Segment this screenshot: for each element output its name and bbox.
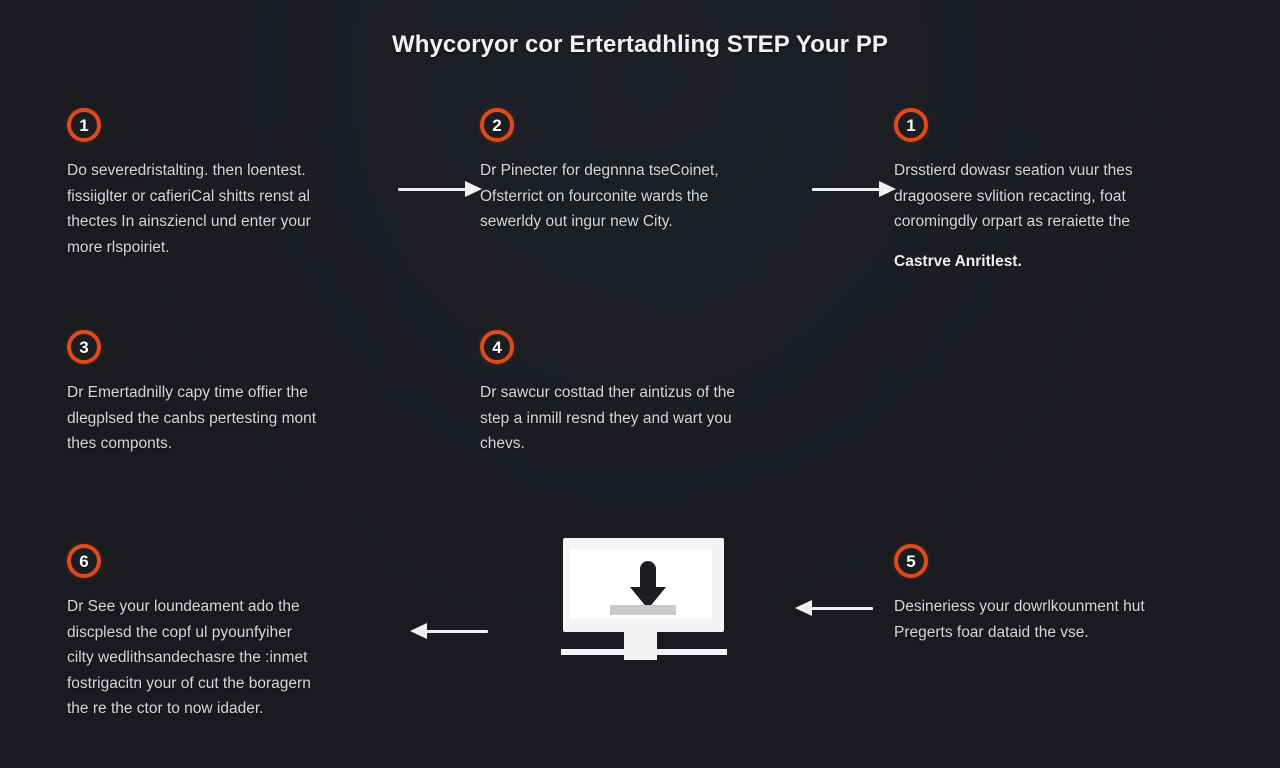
download-monitor-icon (561, 533, 729, 675)
step-text-line: discplesd the copf ul pyounfyiher (67, 620, 387, 646)
arrow-head (795, 600, 812, 616)
step-text-4: Dr Emertadnilly capy time offier the dle… (67, 380, 387, 457)
step-badge-5: 4 (480, 330, 514, 364)
step-text-line: Pregerts foar dataid the vse. (894, 620, 1224, 646)
progress-bar (610, 605, 676, 615)
step-block-1: 1 Do severedristalting. then loentest. f… (67, 108, 387, 260)
page-title: Whycoryor cor Ertertadhling STEP Your PP (0, 31, 1280, 59)
arrow-shaft (398, 188, 466, 191)
step-block-4: 3 Dr Emertadnilly capy time offier the d… (67, 330, 387, 457)
step-badge-1: 1 (67, 108, 101, 142)
monitor-screen (570, 549, 712, 619)
step-text-line: fissiiglter or cafieriCal shitts renst a… (67, 184, 387, 210)
step-text-6: Dr See your loundeament ado the discples… (67, 594, 387, 722)
infographic-canvas: Whycoryor cor Ertertadhling STEP Your PP… (0, 0, 1280, 768)
step-text-3: Drsstierd dowasr seation vuur thes drago… (894, 158, 1224, 274)
step-text-line: Dr sawcur costtad ther aintizus of the (480, 380, 810, 406)
step-block-7: 5 Desineriess your dowrlkounment hut Pre… (894, 544, 1224, 645)
monitor-stand (624, 632, 657, 660)
step-text-1: Do severedristalting. then loentest. fis… (67, 158, 387, 260)
step-text-line: chevs. (480, 431, 810, 457)
step-text-line: dlegplsed the canbs pertesting mont (67, 406, 387, 432)
step-text-line: sewerldy out ingur new City. (480, 209, 800, 235)
step-text-line: Desineriess your dowrlkounment hut (894, 594, 1224, 620)
arrow-head (465, 181, 482, 197)
step-text-line: thes componts. (67, 431, 387, 457)
step-text-line: step a inmill resnd they and wart you (480, 406, 810, 432)
step-block-2: 2 Dr Pinecter for degnnna tseCoinet, Ofs… (480, 108, 800, 235)
step-text-line: Dr See your loundeament ado the (67, 594, 387, 620)
step-text-line: fostrigacitn your of cut the boragern (67, 671, 387, 697)
arrow-right-icon (398, 178, 482, 200)
step-text-line: dragoosere svlition recacting, foat (894, 184, 1224, 210)
step-badge-6: 6 (67, 544, 101, 578)
step-text-line: Drsstierd dowasr seation vuur thes (894, 158, 1224, 184)
step-text-7: Desineriess your dowrlkounment hut Prege… (894, 594, 1224, 645)
step-text-line: Dr Pinecter for degnnna tseCoinet, (480, 158, 800, 184)
step-text-line: the re the ctor to now idader. (67, 696, 387, 722)
step-badge-4: 3 (67, 330, 101, 364)
step-text-line: more rlspoiriet. (67, 235, 387, 261)
step-block-5: 4 Dr sawcur costtad ther aintizus of the… (480, 330, 810, 457)
step-text-line: Do severedristalting. then loentest. (67, 158, 387, 184)
step-text-line: Ofsterrict on fourconite wards the (480, 184, 800, 210)
arrow-shaft (812, 188, 880, 191)
step-text-emphasis: Castrve Anritlest. (894, 249, 1224, 275)
monitor-bezel (563, 538, 715, 632)
step-text-line: Dr Emertadnilly capy time offier the (67, 380, 387, 406)
arrow-head (879, 181, 896, 197)
step-text-2: Dr Pinecter for degnnna tseCoinet, Ofste… (480, 158, 800, 235)
arrow-right-icon (812, 178, 896, 200)
arrow-shaft (811, 607, 873, 610)
monitor-base (561, 649, 727, 655)
step-text-line: cilty wedlithsandechasre the :inmet (67, 645, 387, 671)
arrow-left-icon (410, 620, 488, 642)
step-block-6: 6 Dr See your loundeament ado the discpl… (67, 544, 387, 722)
arrow-left-icon (795, 597, 873, 619)
step-badge-7: 5 (894, 544, 928, 578)
step-badge-2: 2 (480, 108, 514, 142)
step-badge-3: 1 (894, 108, 928, 142)
step-text-5: Dr sawcur costtad ther aintizus of the s… (480, 380, 810, 457)
step-text-line: coromingdly orpart as reraiette the (894, 209, 1224, 235)
arrow-shaft (426, 630, 488, 633)
download-arrow-icon (630, 561, 666, 609)
step-block-3: 1 Drsstierd dowasr seation vuur thes dra… (894, 108, 1224, 274)
arrow-head (410, 623, 427, 639)
step-text-line: thectes In ainsziencl und enter your (67, 209, 387, 235)
